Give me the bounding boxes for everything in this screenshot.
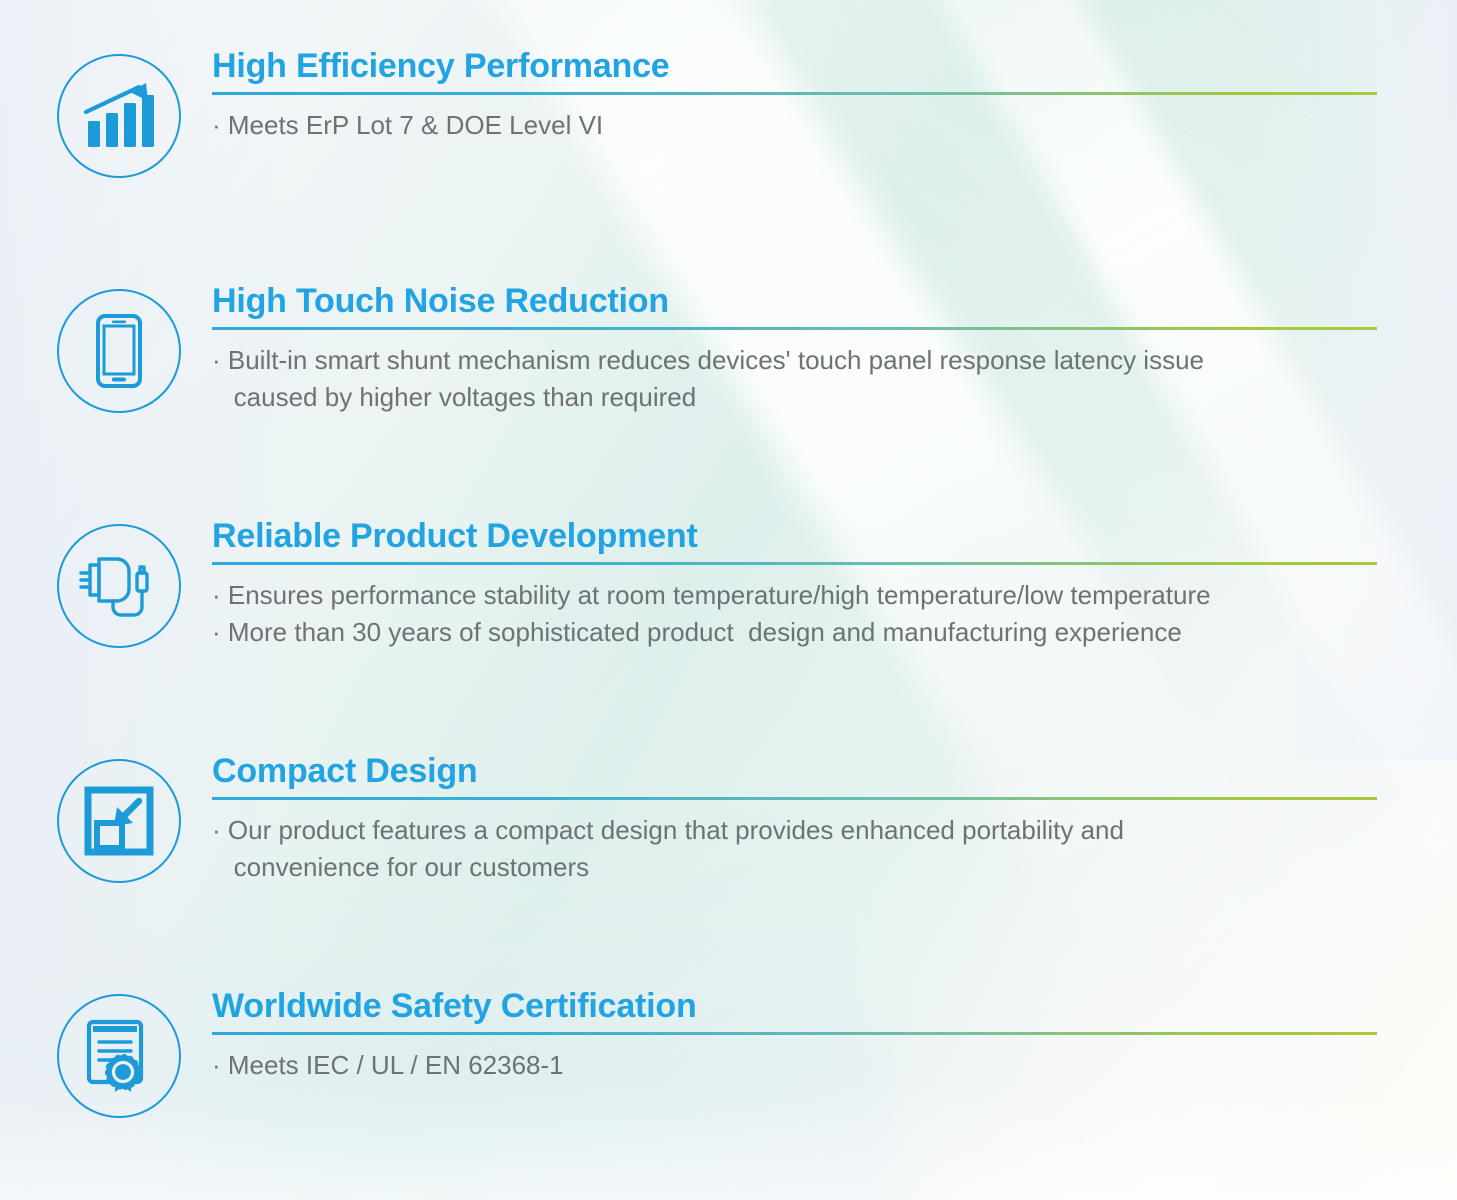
feature-divider <box>212 92 1377 95</box>
feature-body: Compact Design · Our product features a … <box>212 751 1377 886</box>
feature-highlights-page: High Efficiency Performance · Meets ErP … <box>0 0 1457 1200</box>
feature-bullets: · Built-in smart shunt mechanism reduces… <box>212 342 1377 416</box>
feature-title: Worldwide Safety Certification <box>212 986 1377 1026</box>
feature-bullets: · Our product features a compact design … <box>212 812 1377 886</box>
feature-title: High Touch Noise Reduction <box>212 281 1377 321</box>
power-adapter-icon <box>57 524 181 648</box>
certificate-award-icon <box>57 994 181 1118</box>
feature-bullet: · Built-in smart shunt mechanism reduces… <box>212 342 1377 416</box>
features-list: High Efficiency Performance · Meets ErP … <box>0 0 1457 1200</box>
feature-bullet: · More than 30 years of sophisticated pr… <box>212 614 1377 651</box>
feature-divider <box>212 562 1377 565</box>
bar-chart-growth-icon <box>57 54 181 178</box>
feature-body: High Efficiency Performance · Meets ErP … <box>212 46 1377 144</box>
feature-bullets: · Meets IEC / UL / EN 62368-1 <box>212 1047 1377 1084</box>
compact-resize-icon <box>57 759 181 883</box>
feature-bullets: · Ensures performance stability at room … <box>212 577 1377 651</box>
feature-body: Worldwide Safety Certification · Meets I… <box>212 986 1377 1084</box>
feature-bullet: · Meets ErP Lot 7 & DOE Level VI <box>212 107 1377 144</box>
feature-bullets: · Meets ErP Lot 7 & DOE Level VI <box>212 107 1377 144</box>
feature-body: Reliable Product Development · Ensures p… <box>212 516 1377 651</box>
smartphone-icon <box>57 289 181 413</box>
feature-bullet: · Our product features a compact design … <box>212 812 1377 886</box>
feature-body: High Touch Noise Reduction · Built-in sm… <box>212 281 1377 416</box>
feature-divider <box>212 327 1377 330</box>
feature-divider <box>212 797 1377 800</box>
feature-divider <box>212 1032 1377 1035</box>
feature-bullet: · Meets IEC / UL / EN 62368-1 <box>212 1047 1377 1084</box>
feature-title: Compact Design <box>212 751 1377 791</box>
feature-bullet: · Ensures performance stability at room … <box>212 577 1377 614</box>
feature-title: High Efficiency Performance <box>212 46 1377 86</box>
feature-title: Reliable Product Development <box>212 516 1377 556</box>
